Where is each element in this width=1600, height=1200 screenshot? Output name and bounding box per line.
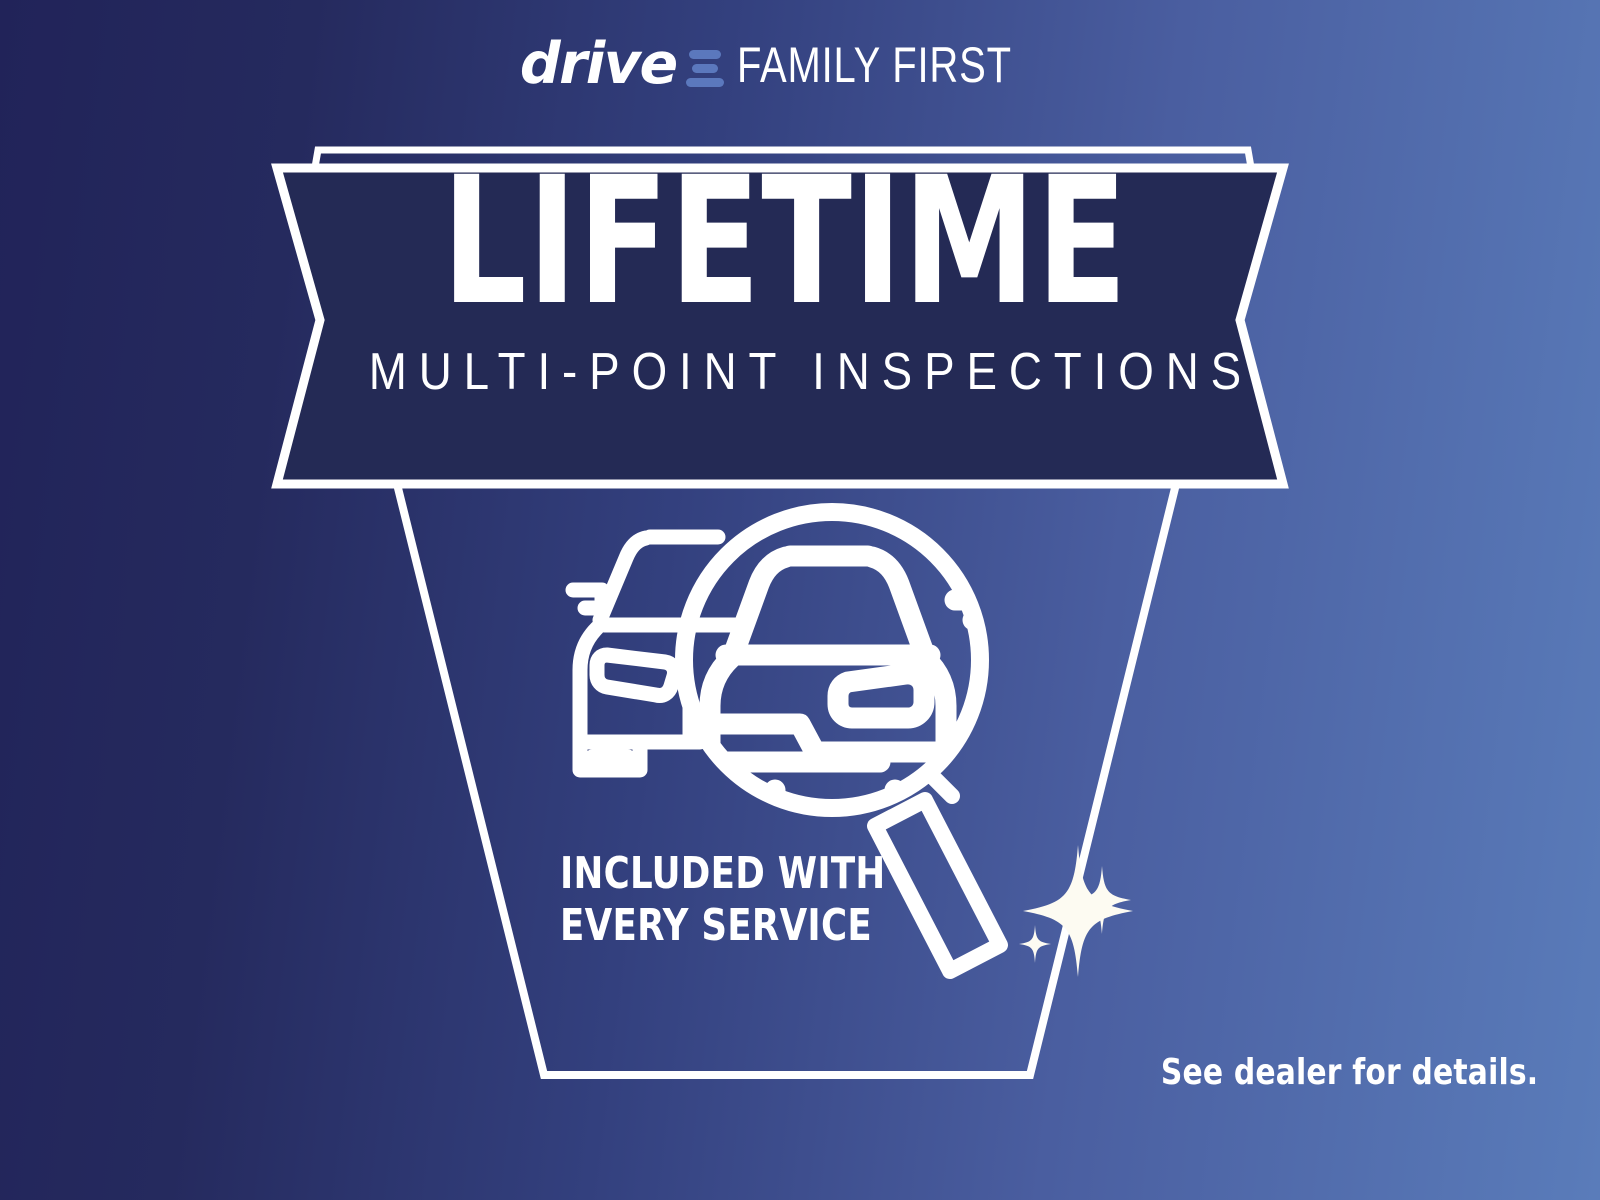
- car-outline-icon: [573, 537, 746, 770]
- stacked-bars-icon: [686, 50, 724, 87]
- banner-text: LIFETIME MULTI-POINT INSPECTIONS: [300, 170, 1270, 402]
- sparkle-star-icon: [1019, 925, 1051, 963]
- page-title: LIFETIME: [378, 170, 1193, 314]
- brand-lockup: drive FAMILY FIRST: [0, 32, 1600, 98]
- brand-wordmark: drive: [520, 36, 677, 93]
- disclaimer-text: See dealer for details.: [1161, 1052, 1538, 1093]
- magnifier-neck-icon: [928, 772, 952, 796]
- sparkle-cluster: [1019, 845, 1133, 977]
- magnifier-lens-icon: [684, 512, 980, 808]
- banner-subtitle: MULTI-POINT INSPECTIONS: [358, 342, 1212, 402]
- promo-graphic: drive FAMILY FIRST: [0, 0, 1600, 1200]
- car-magnified-icon: [710, 556, 998, 818]
- sparkle-star-icon: [1073, 866, 1131, 934]
- sparkle-star-icon: [1023, 845, 1133, 977]
- magnifier-handle-icon: [875, 800, 1000, 971]
- brand-tagline: FAMILY FIRST: [737, 40, 1012, 90]
- included-with-every-service-text: INCLUDED WITH EVERY SERVICE: [560, 848, 886, 952]
